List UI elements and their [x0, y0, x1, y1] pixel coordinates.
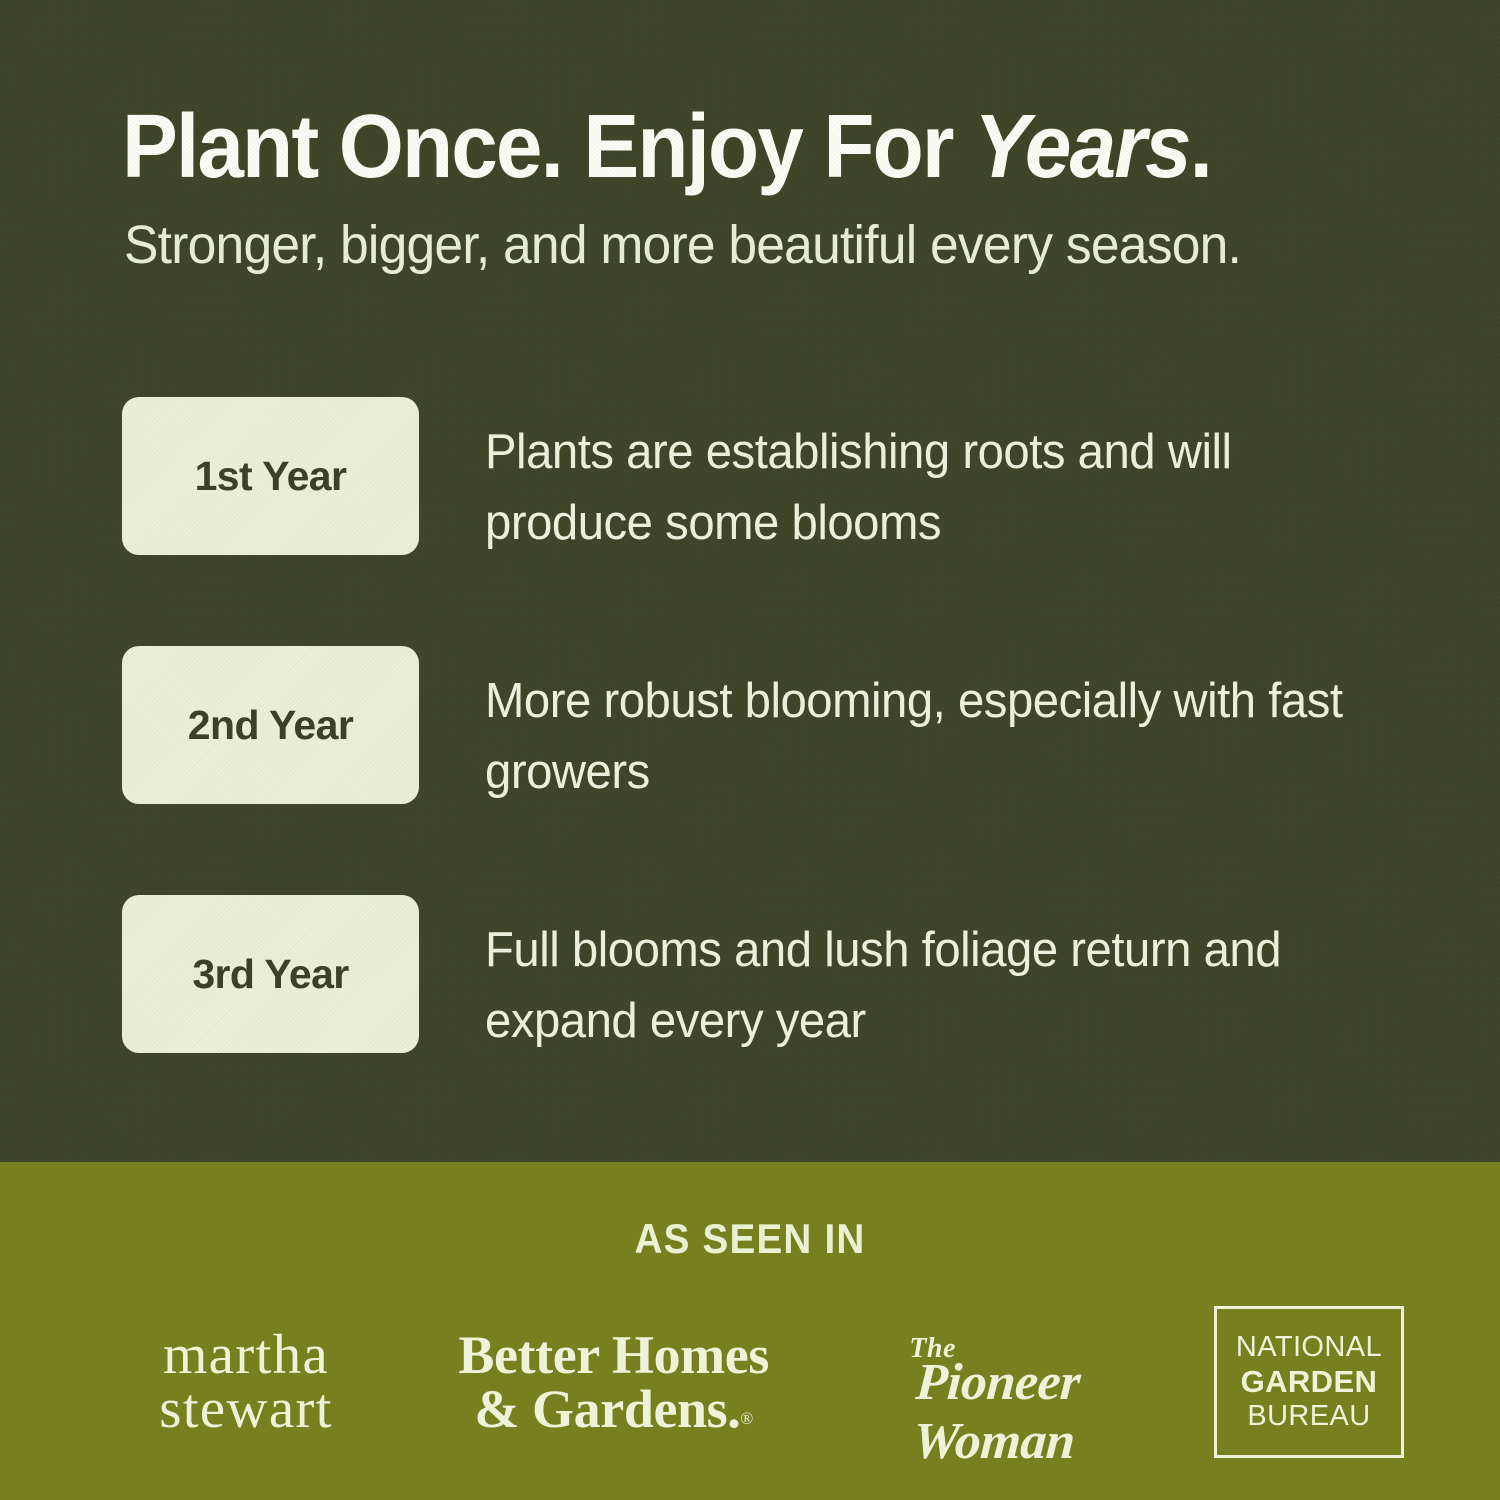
bhg-line-1: Better Homes	[458, 1328, 769, 1382]
promotional-poster: Plant Once. Enjoy For Years. Stronger, b…	[0, 0, 1500, 1500]
timeline-description: Full blooms and lush foliage return and …	[485, 915, 1360, 1056]
headline-text-emphasis: Years	[974, 97, 1190, 197]
headline-text-period: .	[1190, 97, 1211, 197]
timeline-row: 3rd Year Full blooms and lush foliage re…	[122, 895, 1392, 1056]
press-logo-strip: martha stewart Better Homes & Gardens.® …	[96, 1292, 1404, 1472]
year-badge-label: 2nd Year	[188, 702, 353, 749]
year-badge-3rd: 3rd Year	[122, 895, 419, 1053]
the-pioneer-woman-logo: The Pioneer Woman	[831, 1327, 1161, 1437]
hero-panel: Plant Once. Enjoy For Years. Stronger, b…	[0, 0, 1500, 1162]
martha-stewart-line-2: stewart	[159, 1382, 333, 1436]
page-title: Plant Once. Enjoy For Years.	[122, 102, 1211, 192]
year-badge-label: 1st Year	[195, 453, 347, 500]
national-garden-bureau-logo: NATIONAL GARDEN BUREAU	[1214, 1306, 1404, 1458]
as-seen-in-footer: AS SEEN IN martha stewart Better Homes &…	[0, 1162, 1500, 1500]
timeline-row: 1st Year Plants are establishing roots a…	[122, 397, 1392, 558]
growth-timeline-list: 1st Year Plants are establishing roots a…	[122, 397, 1392, 1056]
martha-stewart-logo: martha stewart	[93, 1328, 399, 1437]
as-seen-in-heading: AS SEEN IN	[60, 1215, 1440, 1263]
ngb-line-1: NATIONAL	[1236, 1331, 1382, 1364]
timeline-description: More robust blooming, especially with fa…	[485, 666, 1360, 807]
pioneer-woman-line-2: Pioneer Woman	[827, 1353, 1165, 1471]
timeline-description: Plants are establishing roots and will p…	[485, 417, 1360, 558]
year-badge-label: 3rd Year	[192, 951, 348, 998]
better-homes-and-gardens-logo: Better Homes & Gardens.®	[449, 1328, 779, 1436]
headline-text-primary: Plant Once. Enjoy For	[122, 97, 974, 197]
bhg-line-2-text: & Gardens.	[474, 1379, 740, 1439]
ngb-line-3: BUREAU	[1247, 1400, 1370, 1433]
page-subtitle: Stronger, bigger, and more beautiful eve…	[124, 218, 1241, 272]
martha-stewart-line-1: martha	[163, 1328, 329, 1382]
year-badge-2nd: 2nd Year	[122, 646, 419, 804]
timeline-row: 2nd Year More robust blooming, especiall…	[122, 646, 1392, 807]
ngb-line-2: GARDEN	[1241, 1364, 1378, 1399]
registered-trademark-icon: ®	[740, 1409, 753, 1428]
bhg-line-2: & Gardens.®	[474, 1382, 753, 1436]
year-badge-1st: 1st Year	[122, 397, 419, 555]
